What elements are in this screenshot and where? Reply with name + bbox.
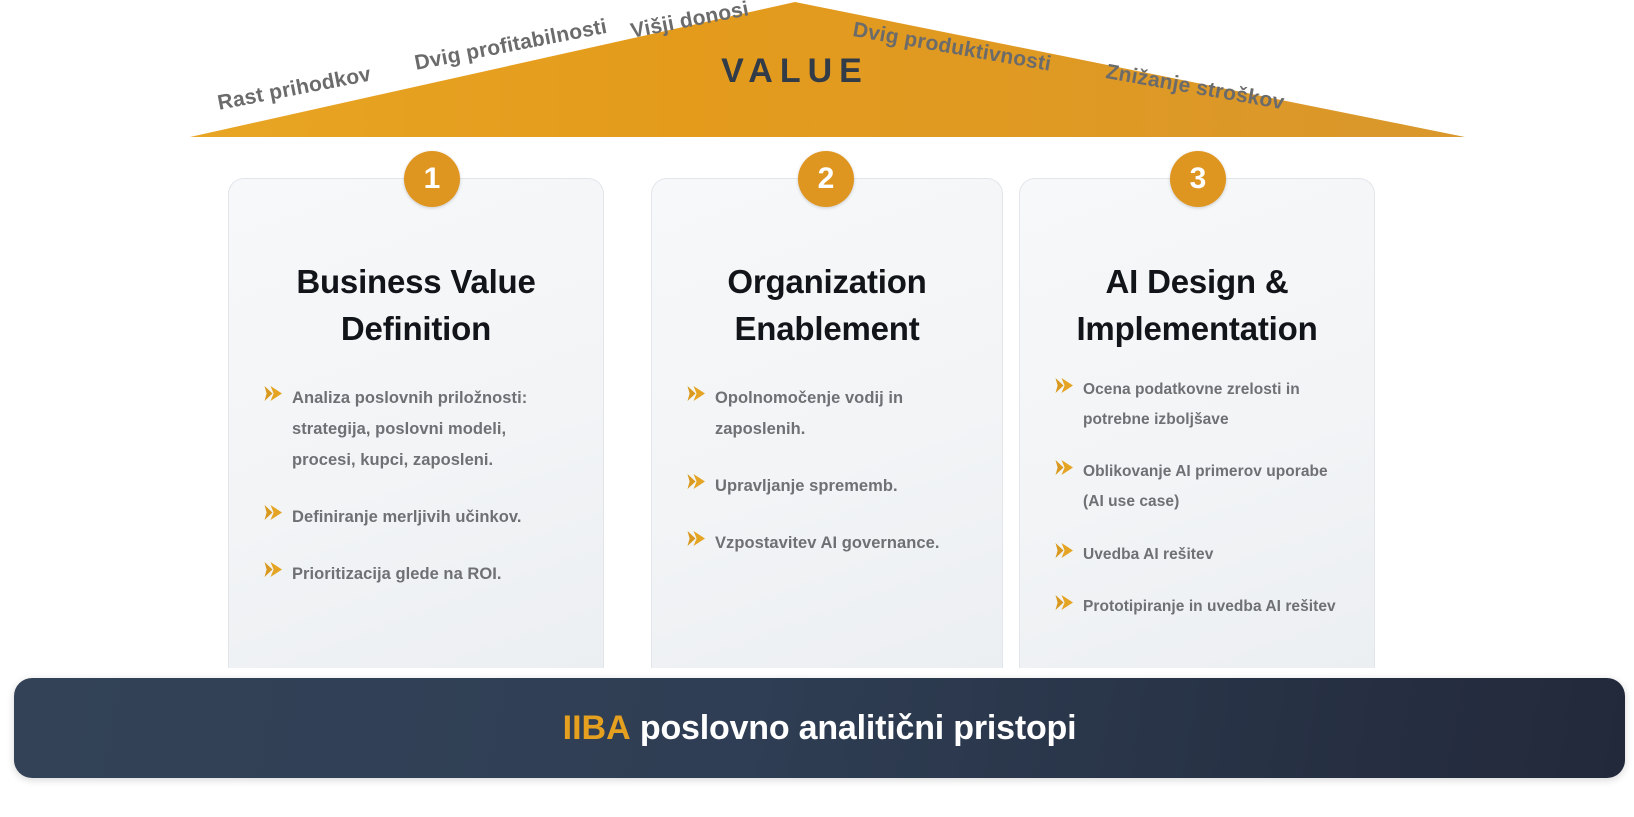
value-roof: Rast prihodkov Dvig profitabilnosti Višj… [0, 0, 1634, 145]
list-item: Vzpostavitev AI governance. [686, 528, 968, 559]
double-chevron-icon [263, 559, 285, 582]
footer-title: IIBA poslovno analitični pristopi [563, 709, 1077, 748]
pillar-card-3[interactable]: 3 AI Design & Implementation Ocena podat… [1019, 178, 1375, 668]
double-chevron-icon [686, 383, 708, 406]
infographic-root: Rast prihodkov Dvig profitabilnosti Višj… [0, 0, 1634, 817]
list-item-text: Analiza poslovnih priložnosti: strategij… [292, 383, 569, 476]
pillar-bullets-2: Opolnomočenje vodij in zaposlenih. Uprav… [686, 383, 968, 559]
pillar-card-2[interactable]: 2 Organization Enablement Opolnomočenje … [651, 178, 1003, 668]
pillar-columns: 1 Business Value Definition Analiza posl… [0, 178, 1634, 678]
list-item: Oblikovanje AI primerov uporabe (AI use … [1054, 457, 1340, 517]
list-item: Ocena podatkovne zrelosti in potrebne iz… [1054, 375, 1340, 435]
double-chevron-icon [263, 502, 285, 525]
list-item-text: Uvedba AI rešitev [1083, 540, 1213, 570]
double-chevron-icon [1054, 375, 1076, 398]
double-chevron-icon [686, 528, 708, 551]
list-item: Prototipiranje in uvedba AI rešitev [1054, 592, 1340, 622]
iiba-brand-label: IIBA [563, 709, 631, 747]
list-item: Opolnomočenje vodij in zaposlenih. [686, 383, 968, 445]
list-item-text: Prototipiranje in uvedba AI rešitev [1083, 592, 1336, 622]
pillar-title-1: Business Value Definition [263, 259, 569, 353]
list-item: Definiranje merljivih učinkov. [263, 502, 569, 533]
list-item-text: Prioritizacija glede na ROI. [292, 559, 502, 590]
footer-banner: IIBA poslovno analitični pristopi [14, 678, 1625, 778]
pillar-bullets-1: Analiza poslovnih priložnosti: strategij… [263, 383, 569, 590]
pillar-bullets-3: Ocena podatkovne zrelosti in potrebne iz… [1054, 375, 1340, 622]
value-headline: VALUE [695, 52, 895, 91]
list-item-text: Vzpostavitev AI governance. [715, 528, 939, 559]
list-item-text: Ocena podatkovne zrelosti in potrebne iz… [1083, 375, 1340, 435]
list-item: Upravljanje sprememb. [686, 471, 968, 502]
double-chevron-icon [1054, 540, 1076, 563]
double-chevron-icon [1054, 592, 1076, 615]
double-chevron-icon [686, 471, 708, 494]
double-chevron-icon [263, 383, 285, 406]
list-item-text: Upravljanje sprememb. [715, 471, 898, 502]
list-item-text: Opolnomočenje vodij in zaposlenih. [715, 383, 968, 445]
double-chevron-icon [1054, 457, 1076, 480]
footer-subtitle: poslovno analitični pristopi [631, 709, 1077, 747]
step-badge-3: 3 [1170, 151, 1226, 207]
list-item-text: Oblikovanje AI primerov uporabe (AI use … [1083, 457, 1340, 517]
step-badge-2: 2 [798, 151, 854, 207]
pillar-title-3: AI Design & Implementation [1054, 259, 1340, 353]
list-item-text: Definiranje merljivih učinkov. [292, 502, 522, 533]
list-item: Analiza poslovnih priložnosti: strategij… [263, 383, 569, 476]
list-item: Prioritizacija glede na ROI. [263, 559, 569, 590]
step-badge-1: 1 [404, 151, 460, 207]
list-item: Uvedba AI rešitev [1054, 540, 1340, 570]
pillar-card-1[interactable]: 1 Business Value Definition Analiza posl… [228, 178, 604, 668]
pillar-title-2: Organization Enablement [686, 259, 968, 353]
